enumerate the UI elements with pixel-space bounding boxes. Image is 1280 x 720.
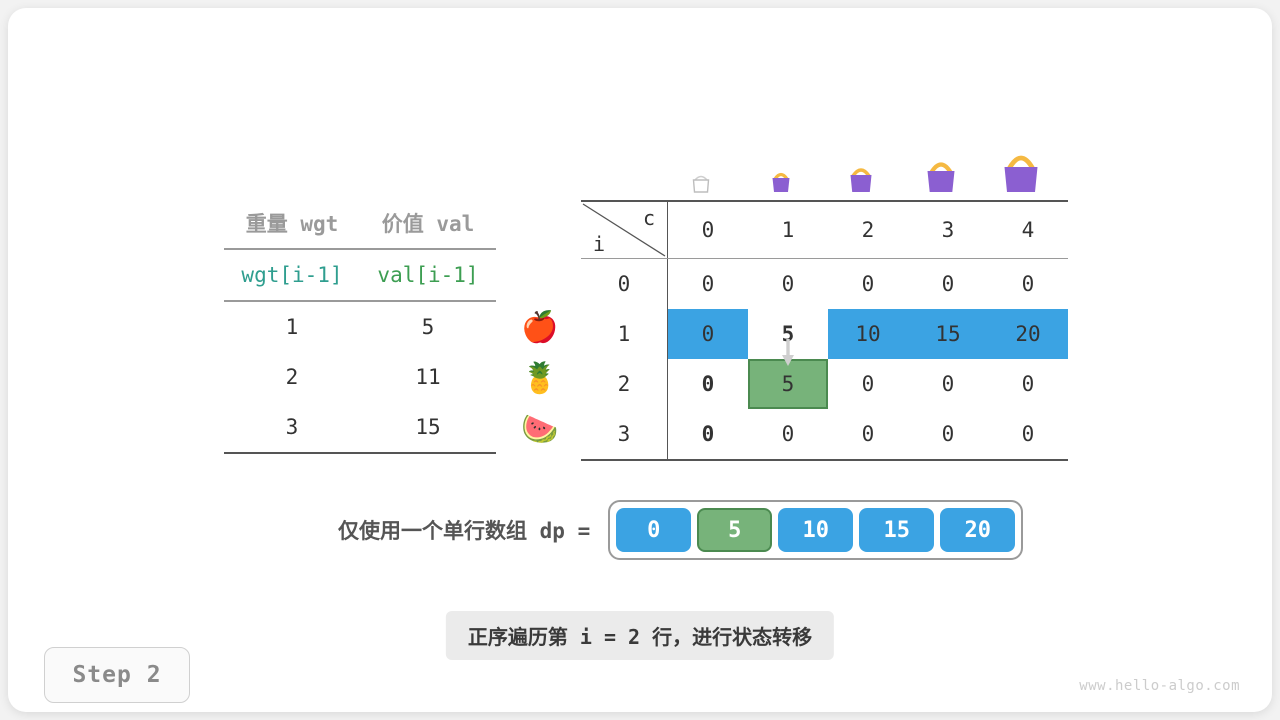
capacity-bag-icon-row: [661, 134, 1061, 194]
table-row: 3 0 0 0 0 0: [581, 409, 1068, 460]
dp-array-cell-0: 0: [616, 508, 691, 552]
dp-col-header-4: 4: [988, 201, 1068, 259]
dp-cell-1-2: 10: [828, 309, 908, 359]
dp-row-header-1: 1: [581, 309, 668, 359]
apple-icon: 🍎: [513, 303, 567, 353]
left-header-val: 价值 val: [360, 198, 496, 249]
table-row: 0 0 0 0 0 0: [581, 259, 1068, 310]
dp-cell-2-4: 0: [988, 359, 1068, 409]
dp-col-header-3: 3: [908, 201, 988, 259]
dp-cell-3-2: 0: [828, 409, 908, 460]
bag-icon-0: [661, 172, 741, 194]
dp-cell-0-2: 0: [828, 259, 908, 310]
dp-cell-1-0: 0: [668, 309, 749, 359]
dp-cell-2-0: 0: [668, 359, 749, 409]
dp-array-cell-3: 15: [859, 508, 934, 552]
dp-array-cell-2: 10: [778, 508, 853, 552]
caption-text: 正序遍历第 i = 2 行，进行状态转移: [446, 611, 834, 660]
dp-col-header-0: 0: [668, 201, 749, 259]
dp-cell-3-3: 0: [908, 409, 988, 460]
val-value-1: 11: [360, 352, 496, 402]
dp-row-header-2: 2: [581, 359, 668, 409]
bag-icon-2: [821, 160, 901, 194]
step-badge: Step 2: [44, 647, 190, 703]
dp-cell-2-1-value: 5: [782, 372, 795, 396]
bag-icon-1: [741, 166, 821, 194]
dp-array-section: 仅使用一个单行数组 dp = 0 5 10 15 20: [338, 500, 1023, 560]
left-table-header-row: 重量 wgt 价值 val: [224, 198, 496, 249]
dp-state-table: c i 0 1 2 3 4 0 0 0 0: [581, 200, 1068, 461]
dp-row-header-0: 0: [581, 259, 668, 310]
dp-array-cell-1: 5: [697, 508, 772, 552]
dp-cell-0-1: 0: [748, 259, 828, 310]
page-root: 重量 wgt 价值 val wgt[i-1] val[i-1] 1 5 2: [0, 0, 1280, 720]
fruit-icon-column: 🍎 🍍 🍉: [513, 303, 567, 455]
dp-table-header-row: c i 0 1 2 3 4: [581, 201, 1068, 259]
dp-cell-0-3: 0: [908, 259, 988, 310]
pineapple-icon: 🍍: [513, 354, 567, 404]
dp-axis-corner-cell: c i: [581, 201, 668, 259]
table-row: 1 0 5 10 15 20: [581, 309, 1068, 359]
table-row: 1 5: [224, 301, 496, 352]
dp-cell-3-1: 0: [748, 409, 828, 460]
dp-cell-1-1: 5: [748, 309, 828, 359]
dp-array-cell-4: 20: [940, 508, 1015, 552]
left-table-subheader-row: wgt[i-1] val[i-1]: [224, 249, 496, 301]
watermark: www.hello-algo.com: [1079, 678, 1240, 694]
table-row: 2 0 5 0 0: [581, 359, 1068, 409]
dp-cell-3-0: 0: [668, 409, 749, 460]
dp-cell-2-1: 5: [748, 359, 828, 409]
content-card: 重量 wgt 价值 val wgt[i-1] val[i-1] 1 5 2: [8, 8, 1272, 712]
left-subheader-val: val[i-1]: [360, 249, 496, 301]
val-value-2: 15: [360, 402, 496, 453]
wgt-value-0: 1: [224, 301, 360, 352]
wgt-value-2: 3: [224, 402, 360, 453]
bag-icon-4: [981, 144, 1061, 194]
dp-row-axis-label: i: [593, 232, 605, 256]
dp-cell-2-3: 0: [908, 359, 988, 409]
dp-cell-2-2: 0: [828, 359, 908, 409]
dp-col-header-1: 1: [748, 201, 828, 259]
dp-cell-0-4: 0: [988, 259, 1068, 310]
table-row: 3 15: [224, 402, 496, 453]
val-value-0: 5: [360, 301, 496, 352]
left-subheader-wgt: wgt[i-1]: [224, 249, 360, 301]
dp-col-header-2: 2: [828, 201, 908, 259]
bag-icon-3: [901, 152, 981, 194]
weight-value-table: 重量 wgt 价值 val wgt[i-1] val[i-1] 1 5 2: [224, 198, 496, 454]
table-row: 2 11: [224, 352, 496, 402]
dp-row-header-3: 3: [581, 409, 668, 460]
left-header-wgt: 重量 wgt: [224, 198, 360, 249]
watermelon-icon: 🍉: [513, 405, 567, 455]
dp-cell-3-4: 0: [988, 409, 1068, 460]
dp-array-label: 仅使用一个单行数组 dp =: [338, 515, 590, 545]
dp-col-axis-label: c: [643, 206, 655, 230]
dp-cell-0-0: 0: [668, 259, 749, 310]
dp-array-container: 0 5 10 15 20: [608, 500, 1023, 560]
wgt-value-1: 2: [224, 352, 360, 402]
dp-cell-1-4: 20: [988, 309, 1068, 359]
dp-cell-1-3: 15: [908, 309, 988, 359]
